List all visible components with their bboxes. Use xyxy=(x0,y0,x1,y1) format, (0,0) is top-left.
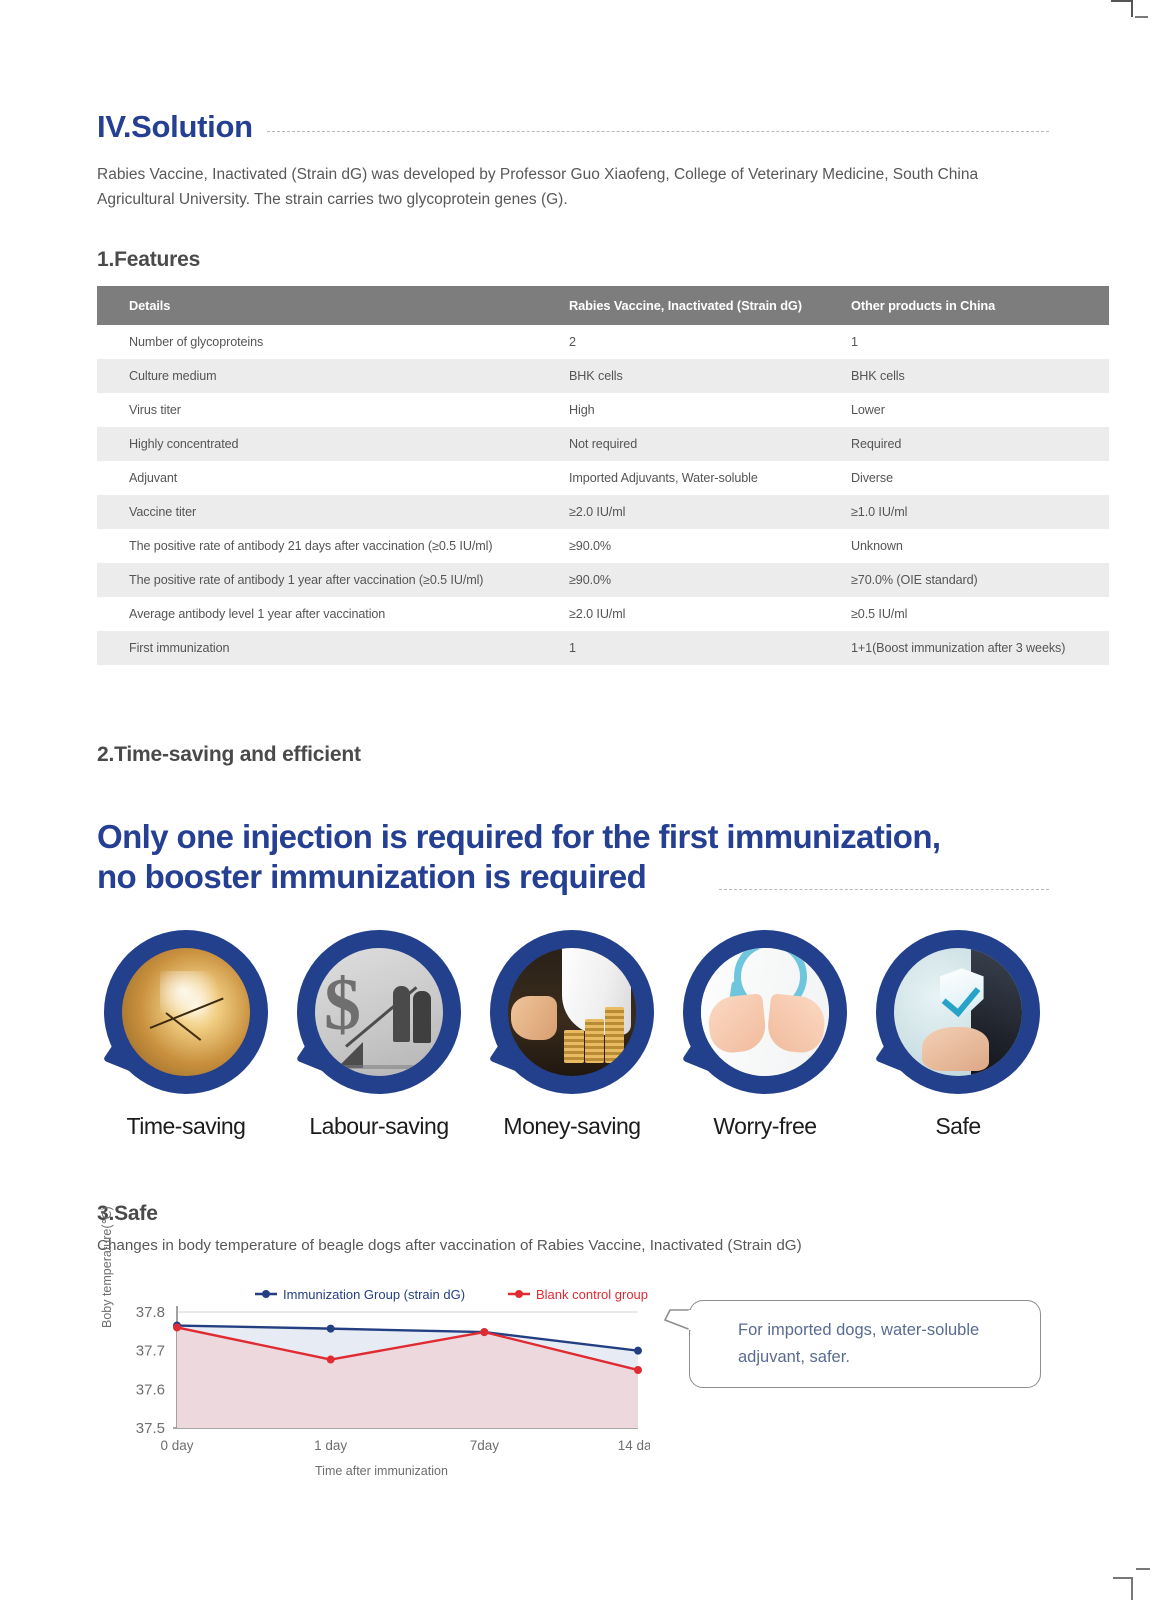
cell-detail: Vaccine titer xyxy=(97,495,569,529)
chart-x-axis-label: Time after immunization xyxy=(315,1464,448,1478)
svg-text:0 day: 0 day xyxy=(160,1438,193,1453)
section-intro-paragraph: Rabies Vaccine, Inactivated (Strain dG) … xyxy=(97,162,1012,212)
svg-text:7day: 7day xyxy=(470,1438,500,1453)
pocket-watch-icon xyxy=(122,948,250,1076)
column-header-others: Other products in China xyxy=(851,286,1109,325)
benefit-label: Money-saving xyxy=(483,1113,661,1140)
section-heading-row: IV.Solution xyxy=(97,102,1049,142)
svg-text:37.8: 37.8 xyxy=(136,1304,165,1321)
cell-detail: First immunization xyxy=(97,631,569,665)
crop-mark-top-right-tick xyxy=(1135,16,1148,18)
page-title: IV.Solution xyxy=(97,111,253,142)
heading-dotted-rule xyxy=(267,131,1049,132)
coin-stacks-icon xyxy=(508,948,636,1076)
benefit-label: Worry-free xyxy=(676,1113,854,1140)
cell-detail: Average antibody level 1 year after vacc… xyxy=(97,597,569,631)
cell-other: ≥70.0% (OIE standard) xyxy=(851,563,1109,597)
cell-other: Diverse xyxy=(851,461,1109,495)
cell-detail: The positive rate of antibody 21 days af… xyxy=(97,529,569,563)
table-header-row: Details Rabies Vaccine, Inactivated (Str… xyxy=(97,286,1109,325)
crop-mark-top-right-horizontal xyxy=(1111,0,1133,2)
benefit-label: Safe xyxy=(869,1113,1047,1140)
speech-bubble-circle xyxy=(490,930,654,1094)
safe-heading: 3.Safe xyxy=(97,1202,1049,1226)
cell-product: ≥90.0% xyxy=(569,529,851,563)
benefits-row: Time-saving $ xyxy=(97,930,1047,1140)
crop-mark-bottom-right-tick xyxy=(1136,1568,1150,1570)
cell-detail: Culture medium xyxy=(97,359,569,393)
table-row: Virus titer High Lower xyxy=(97,393,1109,427)
cell-product: 1 xyxy=(569,631,851,665)
cell-other: BHK cells xyxy=(851,359,1109,393)
cell-other: ≥0.5 IU/ml xyxy=(851,597,1109,631)
cell-detail: The positive rate of antibody 1 year aft… xyxy=(97,563,569,597)
headline-line-1: Only one injection is required for the f… xyxy=(97,817,1049,857)
table-row: Highly concentrated Not required Require… xyxy=(97,427,1109,461)
table-row: Number of glycoproteins 2 1 xyxy=(97,325,1109,359)
cell-product: Not required xyxy=(569,427,851,461)
benefit-item-worry-free: Worry-free xyxy=(676,930,854,1140)
blue-headline-block: Only one injection is required for the f… xyxy=(97,817,1049,898)
document-page: IV.Solution Rabies Vaccine, Inactivated … xyxy=(0,0,1168,1600)
table-row: The positive rate of antibody 21 days af… xyxy=(97,529,1109,563)
crop-mark-bottom-right-vertical xyxy=(1131,1578,1133,1600)
cell-other: 1 xyxy=(851,325,1109,359)
chart-block: Boby temperature(℃) 37.537.637.737.80 da… xyxy=(97,1282,1047,1497)
cell-product: ≥2.0 IU/ml xyxy=(569,495,851,529)
svg-text:14 day: 14 day xyxy=(618,1438,650,1453)
speech-bubble-circle xyxy=(876,930,1040,1094)
features-heading: 1.Features xyxy=(97,248,1049,272)
benefit-item-labour-saving: $ Labour-saving xyxy=(290,930,468,1140)
headline-dotted-rule xyxy=(719,889,1049,890)
column-header-details: Details xyxy=(97,286,569,325)
cell-other: Lower xyxy=(851,393,1109,427)
chart-y-axis-label: Boby temperature(℃) xyxy=(99,1206,114,1328)
cell-other: 1+1(Boost immunization after 3 weeks) xyxy=(851,631,1109,665)
cell-detail: Number of glycoproteins xyxy=(97,325,569,359)
benefit-label: Time-saving xyxy=(97,1113,275,1140)
svg-text:1 day: 1 day xyxy=(314,1438,347,1453)
shield-check-hand-icon xyxy=(894,948,1022,1076)
dollar-lever-icon: $ xyxy=(315,948,443,1076)
callout-tail-icon xyxy=(664,1309,692,1331)
cell-other: ≥1.0 IU/ml xyxy=(851,495,1109,529)
cell-detail: Adjuvant xyxy=(97,461,569,495)
benefit-item-safe: Safe xyxy=(869,930,1047,1140)
table-row: Average antibody level 1 year after vacc… xyxy=(97,597,1109,631)
crop-mark-top-right-vertical xyxy=(1131,0,1133,17)
table-row: Culture medium BHK cells BHK cells xyxy=(97,359,1109,393)
cell-detail: Highly concentrated xyxy=(97,427,569,461)
headline-line-2: no booster immunization is required xyxy=(97,857,1049,897)
chart-canvas: 37.537.637.737.80 day1 day7day14 dayImmu… xyxy=(105,1282,650,1462)
benefit-label: Labour-saving xyxy=(290,1113,468,1140)
svg-text:37.6: 37.6 xyxy=(136,1381,165,1398)
table-row: Vaccine titer ≥2.0 IU/ml ≥1.0 IU/ml xyxy=(97,495,1109,529)
doctor-heart-hands-icon xyxy=(701,948,829,1076)
cell-product: ≥2.0 IU/ml xyxy=(569,597,851,631)
features-table: Details Rabies Vaccine, Inactivated (Str… xyxy=(97,286,1109,665)
speech-bubble-circle: $ xyxy=(297,930,461,1094)
svg-text:Immunization Group (strain dG): Immunization Group (strain dG) xyxy=(283,1287,465,1302)
crop-mark-bottom-right-horizontal xyxy=(1113,1577,1133,1579)
temperature-line-chart: Boby temperature(℃) 37.537.637.737.80 da… xyxy=(105,1282,650,1497)
cell-product: 2 xyxy=(569,325,851,359)
cell-product: ≥90.0% xyxy=(569,563,851,597)
content-column: IV.Solution Rabies Vaccine, Inactivated … xyxy=(97,0,1049,1497)
table-row: Adjuvant Imported Adjuvants, Water-solub… xyxy=(97,461,1109,495)
callout-text: For imported dogs, water-soluble adjuvan… xyxy=(738,1317,1028,1372)
cell-product: BHK cells xyxy=(569,359,851,393)
svg-text:37.7: 37.7 xyxy=(136,1342,165,1359)
time-saving-heading: 2.Time-saving and efficient xyxy=(97,743,1049,767)
cell-product: Imported Adjuvants, Water-soluble xyxy=(569,461,851,495)
table-row: The positive rate of antibody 1 year aft… xyxy=(97,563,1109,597)
benefit-item-time-saving: Time-saving xyxy=(97,930,275,1140)
chart-subtitle: Changes in body temperature of beagle do… xyxy=(97,1237,1049,1254)
column-header-product: Rabies Vaccine, Inactivated (Strain dG) xyxy=(569,286,851,325)
speech-bubble-circle xyxy=(683,930,847,1094)
svg-text:Blank control group: Blank control group xyxy=(536,1287,648,1302)
speech-bubble-circle xyxy=(104,930,268,1094)
table-row: First immunization 1 1+1(Boost immunizat… xyxy=(97,631,1109,665)
cell-other: Unknown xyxy=(851,529,1109,563)
svg-text:37.5: 37.5 xyxy=(136,1420,165,1437)
cell-product: High xyxy=(569,393,851,427)
callout-bubble: For imported dogs, water-soluble adjuvan… xyxy=(689,1300,1041,1388)
benefit-item-money-saving: Money-saving xyxy=(483,930,661,1140)
cell-other: Required xyxy=(851,427,1109,461)
cell-detail: Virus titer xyxy=(97,393,569,427)
